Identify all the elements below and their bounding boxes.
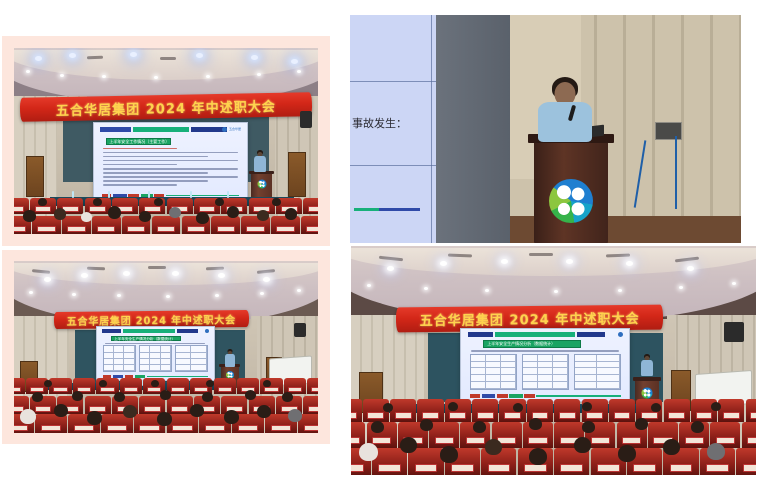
wall-speaker xyxy=(724,322,744,343)
table-cell xyxy=(597,362,620,368)
table-cell xyxy=(140,346,150,351)
light-track xyxy=(205,267,223,271)
speaker-body xyxy=(538,102,592,142)
table-row xyxy=(104,365,135,371)
accent-bar-green xyxy=(495,332,575,336)
speaker-closeup-scene: 事故发生： xyxy=(350,15,741,243)
speaker-body xyxy=(225,354,235,367)
slide-text-line xyxy=(471,350,619,352)
table-cell xyxy=(486,368,501,374)
data-table xyxy=(470,354,517,390)
accent-bar-navy xyxy=(468,332,493,336)
accent-bar-navy xyxy=(102,329,121,332)
audience-head xyxy=(282,392,293,402)
seat xyxy=(120,378,142,395)
data-table xyxy=(103,345,136,372)
slide-text-line xyxy=(103,176,238,178)
table-cell xyxy=(104,365,114,370)
wall-speaker xyxy=(294,323,306,337)
light-track xyxy=(160,57,176,60)
projection-screen: 上半年安全生产情况分析（数据统计） xyxy=(460,328,630,401)
audience-head xyxy=(54,404,68,417)
photo-bottom-right: 五合华居集团 2024 年中述职大会 上半年安全生产情况分析（ xyxy=(351,246,756,475)
table-row xyxy=(523,355,568,362)
projection-screen: 五合华居 上半年安全工作情况（主要工作） xyxy=(93,122,248,202)
data-table xyxy=(175,345,208,372)
auditorium-scene: 五合华居集团 2024 年中述职大会 五合华居 xyxy=(14,48,318,234)
audience-head xyxy=(224,410,239,424)
table-cell xyxy=(104,353,114,358)
table-cell xyxy=(114,353,124,358)
table-cell xyxy=(553,362,568,368)
seat xyxy=(429,422,459,448)
slide-logo-mark xyxy=(205,329,209,333)
audience-head xyxy=(529,418,542,430)
table-row xyxy=(575,382,620,389)
wall-outlet xyxy=(655,122,682,140)
audience-head xyxy=(663,439,680,455)
table-cell xyxy=(597,382,620,388)
slide-footer-bar xyxy=(470,394,621,398)
seat xyxy=(664,399,690,422)
table-cell xyxy=(523,382,538,388)
table-cell xyxy=(575,375,598,381)
table-cell xyxy=(538,382,553,388)
table-row xyxy=(176,365,207,371)
audience-head xyxy=(513,403,523,412)
accent-bar-navy xyxy=(177,329,198,332)
table-cell xyxy=(471,362,486,368)
seat xyxy=(271,216,300,234)
seat xyxy=(49,378,71,395)
accent-bar-green xyxy=(133,127,189,132)
slide-text-line xyxy=(103,152,238,154)
podium xyxy=(534,134,608,243)
slide-text-line xyxy=(105,343,205,345)
table-cell xyxy=(161,365,171,370)
slide-text: 事故发生： xyxy=(352,115,407,131)
table-cell xyxy=(140,359,150,364)
ceiling-spotlight xyxy=(166,295,170,298)
table-row xyxy=(575,362,620,369)
table-cell xyxy=(124,346,134,351)
table-cell xyxy=(124,353,134,358)
ceiling-spotlight xyxy=(732,282,736,285)
speaker-figure xyxy=(534,77,597,141)
ceiling-spotlight xyxy=(81,273,88,278)
seat xyxy=(214,378,236,395)
table-cell xyxy=(597,368,620,374)
audience-head xyxy=(285,208,297,220)
table-row xyxy=(523,375,568,382)
seat xyxy=(390,399,416,422)
ceiling-spotlight xyxy=(566,259,573,264)
stage-door xyxy=(26,156,44,197)
data-table xyxy=(139,345,172,372)
seat xyxy=(736,448,756,475)
table-row xyxy=(471,382,516,389)
seat xyxy=(408,448,443,475)
speaker-body xyxy=(254,156,266,172)
table-cell xyxy=(161,346,171,351)
audience-head xyxy=(54,208,66,220)
slide-title-text: 上半年安全生产情况分析（数据统计） xyxy=(484,341,579,347)
footer-chip xyxy=(470,394,481,398)
light-track xyxy=(529,253,553,256)
table-cell xyxy=(161,353,171,358)
table-row xyxy=(140,365,171,371)
table-cell xyxy=(124,359,134,364)
audience-head xyxy=(707,443,725,460)
seat xyxy=(351,399,362,422)
event-banner-text: 五合华居集团 2024 年中述职大会 xyxy=(56,94,276,118)
table-cell xyxy=(104,346,114,351)
table-cell xyxy=(501,375,516,381)
audience-head xyxy=(420,419,433,431)
audience-head xyxy=(139,211,151,222)
table-cell xyxy=(486,375,501,381)
photo-collage-canvas: 五合华居集团 2024 年中述职大会 五合华居 xyxy=(0,0,761,486)
audience-head xyxy=(215,198,224,206)
photo-bottom-right-frame: 五合华居集团 2024 年中述职大会 上半年安全生产情况分析（ xyxy=(351,246,756,475)
slide-data-tables xyxy=(103,345,208,372)
slide: 五合华居 上半年安全工作情况（主要工作） xyxy=(94,123,247,201)
ceiling-spotlight xyxy=(218,273,225,278)
audience xyxy=(14,197,318,234)
audience-head xyxy=(574,437,591,453)
speaker-figure xyxy=(218,349,242,368)
table-cell xyxy=(471,368,486,374)
table-cell xyxy=(575,355,598,361)
footer-chip xyxy=(524,394,535,398)
audience xyxy=(351,399,756,475)
audience-head xyxy=(400,437,417,453)
table-cell xyxy=(191,353,206,358)
table-cell xyxy=(597,355,620,361)
seat xyxy=(303,198,318,214)
ceiling-spotlight xyxy=(206,75,210,78)
slide-text-line xyxy=(103,172,208,174)
ceiling-spotlight xyxy=(130,52,137,57)
audience-head xyxy=(23,210,36,222)
slide-text-line xyxy=(103,160,238,162)
screen-rule xyxy=(350,81,436,82)
seat xyxy=(307,378,318,395)
slide-logo-label: 五合华居 xyxy=(229,127,241,131)
seat xyxy=(417,399,443,422)
speaker-figure xyxy=(630,354,662,381)
audience-head xyxy=(81,212,92,222)
photo-bottom-left-frame: 五合华居集团 2024 年中述职大会 上半年安全生产情况分析（ xyxy=(2,250,330,444)
seat xyxy=(35,414,67,433)
slide: 上半年安全生产情况分析（数据统计） xyxy=(97,327,214,380)
table-cell xyxy=(471,382,486,388)
audience-head xyxy=(582,402,592,411)
table-cell xyxy=(191,346,206,351)
seat xyxy=(167,396,193,415)
event-banner-text: 五合华居集团 2024 年中述职大会 xyxy=(419,307,639,329)
audience-head xyxy=(169,207,181,218)
table-cell xyxy=(523,355,538,361)
light-track xyxy=(87,56,103,60)
accent-bar-blue xyxy=(100,127,131,132)
slide-logo: 五合华居 xyxy=(222,127,241,132)
ceiling-spotlight xyxy=(215,294,219,297)
table-cell xyxy=(575,362,598,368)
slide-logo xyxy=(205,329,209,333)
audience-head xyxy=(529,448,547,465)
table-cell xyxy=(191,365,206,370)
audience-head xyxy=(691,421,704,433)
audience-head xyxy=(108,206,121,219)
seat xyxy=(554,399,580,422)
table-row xyxy=(523,382,568,389)
table-cell xyxy=(523,362,538,368)
seat xyxy=(92,216,121,234)
table-cell xyxy=(104,359,114,364)
table-cell xyxy=(575,382,598,388)
table-cell xyxy=(523,368,538,374)
table-cell xyxy=(501,382,516,388)
table-cell xyxy=(114,365,124,370)
ceiling-spotlight xyxy=(72,293,76,296)
photo-top-right: 事故发生： xyxy=(350,15,741,243)
photo-top-left: 五合华居集团 2024 年中述职大会 五合华居 xyxy=(14,48,318,234)
audience-head xyxy=(72,391,83,401)
table-cell xyxy=(538,355,553,361)
table-cell xyxy=(140,353,150,358)
audience-head xyxy=(257,210,269,221)
seat xyxy=(152,216,181,234)
speaker-body xyxy=(641,360,653,376)
audience-head xyxy=(87,411,102,425)
auditorium-scene: 五合华居集团 2024 年中述职大会 上半年安全生产情况分析（ xyxy=(351,246,756,475)
ceiling-spotlight xyxy=(554,290,558,293)
accent-bar-navy xyxy=(577,332,605,336)
data-table xyxy=(574,354,621,390)
data-table xyxy=(522,354,569,390)
table-cell xyxy=(553,382,568,388)
ceiling-spotlight xyxy=(424,287,428,290)
seat xyxy=(609,399,635,422)
audience-head xyxy=(151,380,159,387)
speaker-figure xyxy=(248,150,272,174)
audience-head xyxy=(448,402,458,411)
audience-head xyxy=(635,418,648,430)
audience-head xyxy=(473,421,486,433)
seat xyxy=(718,399,744,422)
audience-head xyxy=(618,445,636,462)
accent-bar-green xyxy=(123,329,174,332)
slide-body xyxy=(103,148,238,191)
audience-head xyxy=(160,390,171,400)
slide-accent-bar xyxy=(354,208,420,211)
table-cell xyxy=(150,346,160,351)
ceiling-spotlight xyxy=(291,59,298,64)
audience-head xyxy=(651,403,661,412)
table-cell xyxy=(553,355,568,361)
slide-logo-mark xyxy=(222,127,227,132)
company-logo-icon xyxy=(641,388,652,399)
slide-text-line xyxy=(103,184,177,186)
table-row xyxy=(471,368,516,375)
table-cell xyxy=(501,355,516,361)
ceiling-spotlight xyxy=(154,76,158,79)
table-cell xyxy=(150,353,160,358)
ceiling-spotlight xyxy=(297,289,301,292)
audience xyxy=(14,378,318,433)
table-cell xyxy=(176,359,191,364)
seat xyxy=(301,216,318,234)
event-banner: 五合华居集团 2024 年中述职大会 xyxy=(20,92,312,122)
table-cell xyxy=(191,359,206,364)
footer-chip xyxy=(482,394,496,398)
table-cell xyxy=(538,368,553,374)
slide-title-text: 上半年安全生产情况分析（数据统计） xyxy=(112,337,180,343)
table-cell xyxy=(124,365,134,370)
table-cell xyxy=(140,365,150,370)
light-track xyxy=(87,267,105,271)
table-cell xyxy=(538,362,553,368)
slide-text-line xyxy=(103,164,177,166)
table-cell xyxy=(538,375,553,381)
photo-bottom-left: 五合华居集团 2024 年中述职大会 上半年安全生产情况分析（ xyxy=(14,261,318,433)
table-cell xyxy=(114,346,124,351)
ceiling-spotlight xyxy=(60,74,64,77)
table-cell xyxy=(597,375,620,381)
slide-title-box: 上半年安全生产情况分析（数据统计） xyxy=(111,336,181,341)
table-cell xyxy=(471,355,486,361)
audience-head xyxy=(157,412,172,426)
slide-text-line xyxy=(103,156,208,158)
audience-head xyxy=(227,206,239,218)
table-cell xyxy=(176,353,191,358)
table-cell xyxy=(523,375,538,381)
slide-title-box: 上半年安全生产情况分析（数据统计） xyxy=(483,340,580,348)
company-logo-icon xyxy=(549,179,593,223)
photo-top-right-frame: 事故发生： xyxy=(350,15,741,243)
slide-text-line xyxy=(103,148,177,150)
table-cell xyxy=(486,355,501,361)
slide-title-box: 上半年安全工作情况（主要工作） xyxy=(106,138,170,145)
table-cell xyxy=(176,346,191,351)
audience-head xyxy=(485,439,502,455)
table-cell xyxy=(150,365,160,370)
ceiling-spotlight xyxy=(297,70,301,73)
slide-logo-mark xyxy=(618,332,623,337)
audience-head xyxy=(20,409,36,424)
table-cell xyxy=(114,359,124,364)
slide-title-text: 上半年安全工作情况（主要工作） xyxy=(107,139,169,145)
seat xyxy=(742,422,756,448)
audience-head xyxy=(206,380,214,387)
photo-top-left-frame: 五合华居集团 2024 年中述职大会 五合华居 xyxy=(2,36,330,246)
table-cell xyxy=(553,368,568,374)
seat-row xyxy=(351,399,756,422)
seat xyxy=(303,396,318,415)
audience-head xyxy=(440,446,458,463)
table-cell xyxy=(501,368,516,374)
audience-head xyxy=(359,443,378,461)
footer-chip xyxy=(497,394,508,398)
slide-accent-bar xyxy=(102,329,209,332)
audience-head xyxy=(582,421,595,433)
table-cell xyxy=(471,375,486,381)
audience-head xyxy=(371,421,384,433)
table-cell xyxy=(176,365,191,370)
light-track xyxy=(148,266,166,269)
cable xyxy=(675,136,677,209)
slide-text-line xyxy=(103,180,208,182)
footer-chip xyxy=(536,395,621,397)
screen-rule xyxy=(431,15,432,243)
ceiling-spotlight xyxy=(485,289,489,292)
slide-logo xyxy=(618,332,623,337)
audience-head xyxy=(99,380,107,387)
stage-door xyxy=(288,152,306,197)
table-row xyxy=(471,362,516,369)
seat xyxy=(472,399,498,422)
audience-head xyxy=(288,409,302,422)
ceiling-spotlight xyxy=(69,53,76,58)
table-cell xyxy=(486,362,501,368)
audience-head xyxy=(711,402,721,411)
table-row xyxy=(575,368,620,375)
slide-accent-bar xyxy=(468,332,623,336)
slide-accent-bar xyxy=(100,127,241,132)
projection-screen: 上半年安全生产情况分析（数据统计） xyxy=(96,326,215,381)
slide: 上半年安全生产情况分析（数据统计） xyxy=(461,329,629,400)
company-logo-icon xyxy=(257,180,266,189)
screen-rule xyxy=(350,165,436,166)
slide-text-line xyxy=(103,168,238,170)
wall-speaker xyxy=(300,111,312,128)
footer-chip xyxy=(509,394,523,398)
table-row xyxy=(523,362,568,369)
ceiling-spotlight xyxy=(501,259,508,264)
table-cell xyxy=(501,362,516,368)
audience-head xyxy=(93,198,102,206)
auditorium-scene: 五合华居集团 2024 年中述职大会 上半年安全生产情况分析（ xyxy=(14,261,318,433)
seat xyxy=(746,399,756,422)
projection-screen: 事故发生： xyxy=(350,15,436,243)
seat xyxy=(211,216,240,234)
stage-pillar xyxy=(436,15,510,243)
table-cell xyxy=(486,382,501,388)
table-row xyxy=(471,355,516,362)
table-row xyxy=(575,375,620,382)
table-row xyxy=(471,375,516,382)
table-cell xyxy=(553,375,568,381)
table-cell xyxy=(150,359,160,364)
table-row xyxy=(523,368,568,375)
audience-head xyxy=(245,390,256,400)
table-cell xyxy=(575,368,598,374)
table-cell xyxy=(161,359,171,364)
slide-data-tables xyxy=(470,354,621,390)
table-row xyxy=(575,355,620,362)
audience-head xyxy=(154,198,163,206)
seat xyxy=(14,378,25,395)
